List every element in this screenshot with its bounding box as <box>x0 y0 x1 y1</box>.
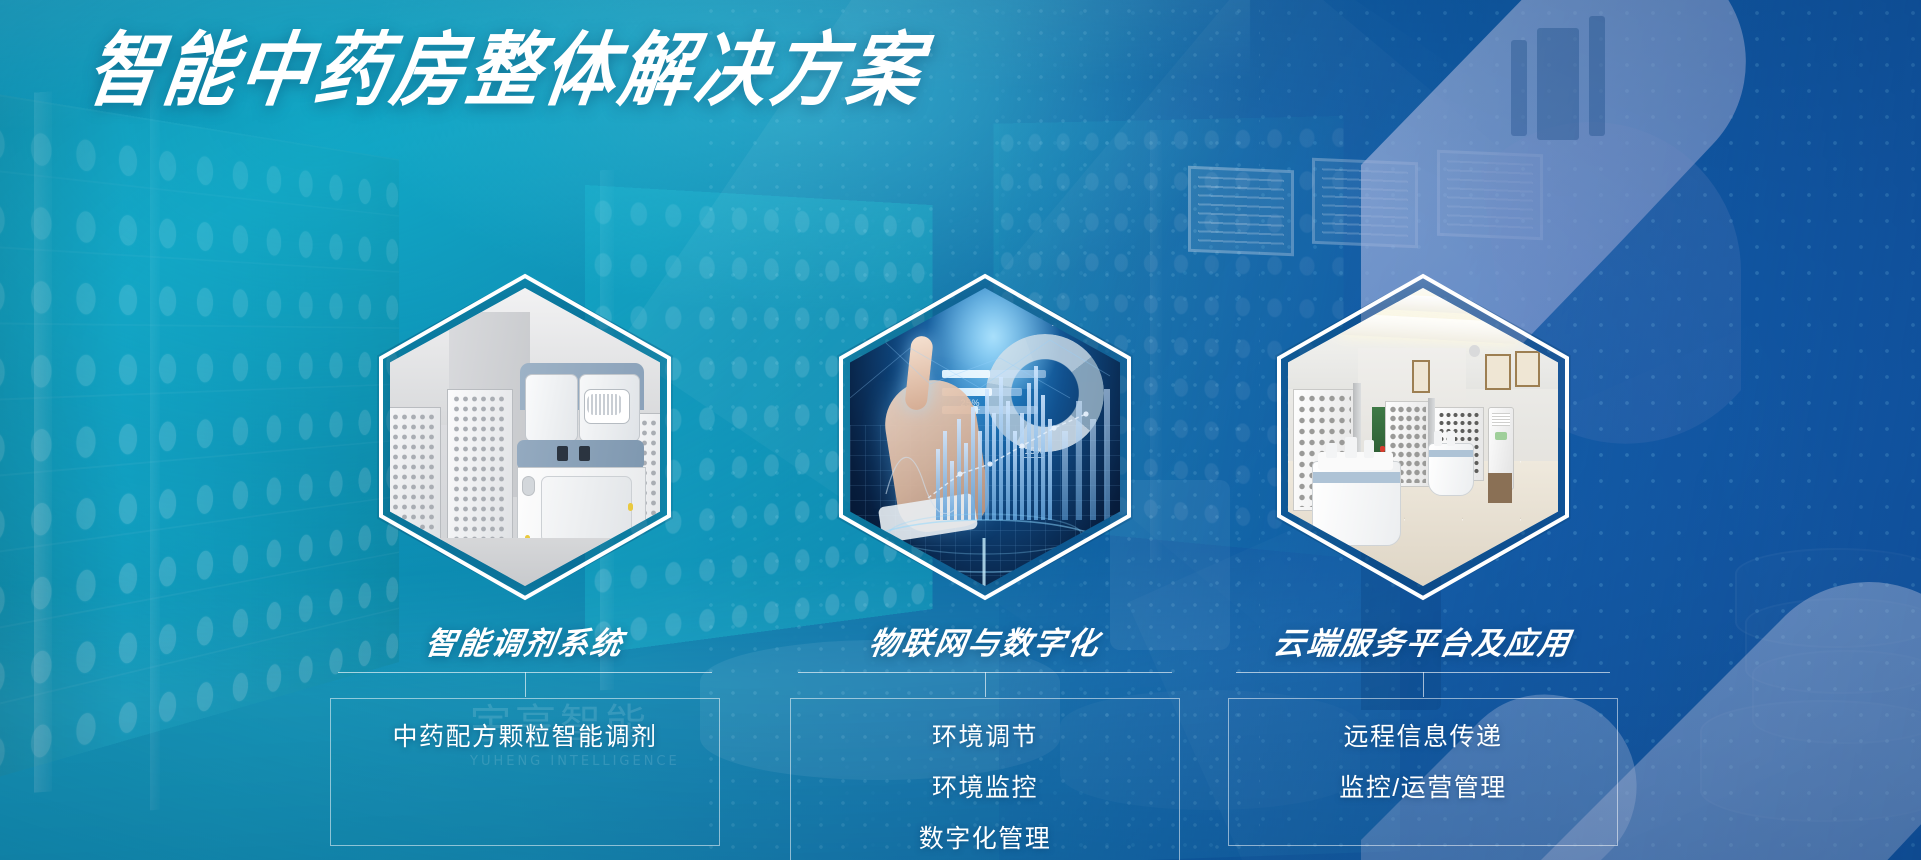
hexagon-border-outline <box>1273 272 1573 602</box>
card-label: 物联网与数字化 <box>786 618 1183 663</box>
card-cloud-platform[interactable]: 云端服务平台及应用 远程信息传递 监控/运营管理 <box>1228 272 1618 846</box>
hexagon-frame <box>375 272 675 602</box>
card-row: 智能调剂系统 中药配方颗粒智能调剂 20% 25% <box>0 0 1921 860</box>
hexagon-frame: 20% 25% 15% <box>835 272 1135 602</box>
label-separator <box>1228 672 1618 698</box>
info-line: 环境监控 <box>801 776 1169 801</box>
info-line: 监控/运营管理 <box>1239 776 1607 801</box>
label-separator <box>330 672 720 698</box>
label-separator <box>790 672 1180 698</box>
info-line: 环境调节 <box>801 725 1169 750</box>
card-info-box: 远程信息传递 监控/运营管理 <box>1228 698 1618 846</box>
card-iot-digital[interactable]: 20% 25% 15% <box>790 272 1180 860</box>
card-label: 智能调剂系统 <box>326 618 723 663</box>
info-line: 数字化管理 <box>801 827 1169 852</box>
hexagon-frame <box>1273 272 1573 602</box>
hexagon-border-outline <box>835 272 1135 602</box>
info-line: 中药配方颗粒智能调剂 <box>341 725 709 750</box>
card-label: 云端服务平台及应用 <box>1224 618 1621 663</box>
poster-canvas: 宇亨智能 YUHENG INTELLIGENCE 智能中药房整体解决方案 <box>0 0 1921 860</box>
card-intelligent-dispensing[interactable]: 智能调剂系统 中药配方颗粒智能调剂 <box>330 272 720 846</box>
card-info-box: 环境调节 环境监控 数字化管理 <box>790 698 1180 860</box>
hexagon-border-outline <box>375 272 675 602</box>
info-line: 远程信息传递 <box>1239 725 1607 750</box>
card-info-box: 中药配方颗粒智能调剂 <box>330 698 720 846</box>
